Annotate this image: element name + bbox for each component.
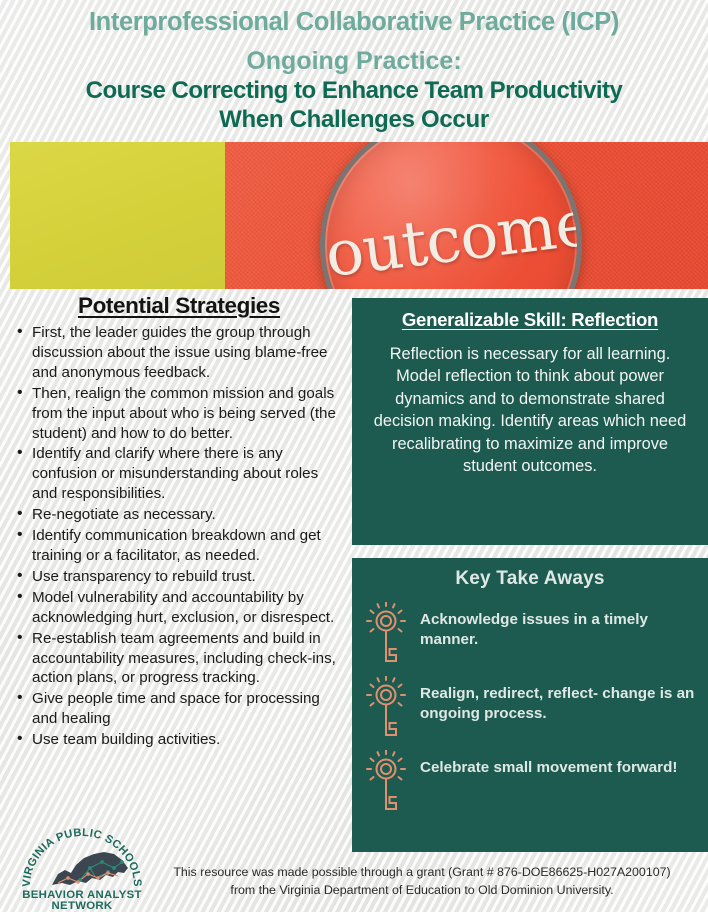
list-item: Re-negotiate as necessary. [14,505,344,525]
list-item: First, the leader guides the group throu… [14,323,344,383]
grant-line-1: This resource was made possible through … [142,864,702,882]
strategies-list: First, the leader guides the group throu… [14,323,344,750]
list-item: Re-establish team agreements and build i… [14,629,344,689]
reflection-panel-title: Generalizable Skill: Reflection [366,309,694,331]
takeaway-text: Acknowledge issues in a timely manner. [420,602,698,650]
key-icon [362,750,410,812]
page-title-line-4: When Challenges Occur [8,105,700,134]
generalizable-skill-panel: Generalizable Skill: Reflection Reflecti… [352,298,708,545]
list-item: Acknowledge issues in a timely manner. [362,602,698,664]
list-item: Then, realign the common mission and goa… [14,384,344,444]
page-title-block: Interprofessional Collaborative Practice… [0,0,708,137]
page-title-line-2: Ongoing Practice: [8,45,700,79]
takeaway-text: Celebrate small movement forward! [420,750,677,778]
logo-line-2: NETWORK [52,900,113,912]
takeaway-text: Realign, redirect, reflect- change is an… [420,676,698,724]
potential-strategies-section: Potential Strategies First, the leader g… [14,293,344,751]
key-takeaways-panel: Key Take Aways Acknowledge issues in a t… [352,558,708,852]
vpsban-logo: VIRGINIA PUBLIC SCHOOLS BEHAVIOR ANALYST… [18,828,146,912]
list-item: Give people time and space for processin… [14,689,344,729]
list-item: Identify communication breakdown and get… [14,526,344,566]
hero-word: outcome [321,188,580,289]
hero-banner-image: outcome [10,142,708,289]
footer: VIRGINIA PUBLIC SCHOOLS BEHAVIOR ANALYST… [0,855,708,912]
grant-attribution: This resource was made possible through … [142,864,702,899]
key-icon [362,602,410,664]
grant-line-2: from the Virginia Department of Educatio… [142,882,702,900]
potential-strategies-title: Potential Strategies [14,293,344,319]
list-item: Identify and clarify where there is any … [14,444,344,504]
reflection-panel-body: Reflection is necessary for all learning… [366,343,694,478]
list-item: Use team building activities. [14,730,344,750]
list-item: Use transparency to rebuild trust. [14,567,344,587]
page-title-line-1: Interprofessional Collaborative Practice… [8,8,700,37]
key-icon [362,676,410,738]
magnifying-glass-icon: outcome [320,142,582,289]
hero-yellow-panel [10,142,225,289]
key-takeaways-title: Key Take Aways [362,568,698,590]
list-item: Celebrate small movement forward! [362,750,698,812]
page-title-line-3: Course Correcting to Enhance Team Produc… [8,76,700,105]
list-item: Realign, redirect, reflect- change is an… [362,676,698,738]
list-item: Model vulnerability and accountability b… [14,588,344,628]
